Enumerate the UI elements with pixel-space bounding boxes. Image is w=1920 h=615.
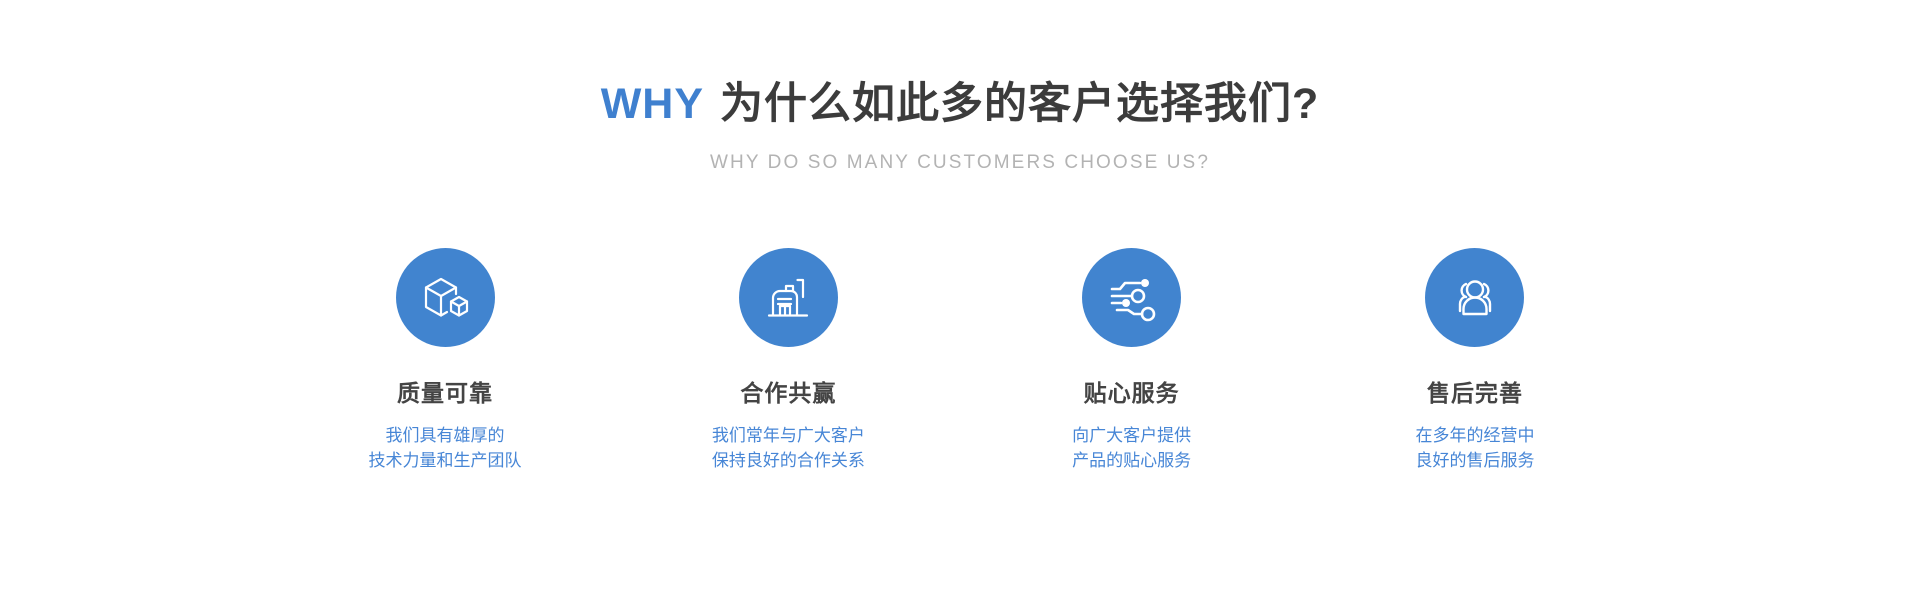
feature-desc-line-2: 产品的贴心服务 (1072, 448, 1191, 473)
people-group-icon (1447, 270, 1503, 326)
feature-item-cooperation[interactable]: 合作共赢 我们常年与广大客户 保持良好的合作关系 (673, 248, 903, 473)
icon-circle-after-sales (1425, 248, 1524, 347)
feature-item-quality[interactable]: 质量可靠 我们具有雄厚的 技术力量和生产团队 (330, 248, 560, 473)
feature-desc-line-1: 我们具有雄厚的 (369, 423, 522, 448)
feature-description: 在多年的经营中 良好的售后服务 (1415, 423, 1534, 473)
factory-icon (760, 270, 816, 326)
feature-item-service[interactable]: 贴心服务 向广大客户提供 产品的贴心服务 (1017, 248, 1247, 473)
feature-list: 质量可靠 我们具有雄厚的 技术力量和生产团队 (330, 248, 1590, 473)
heading-block: WHY为什么如此多的客户选择我们? WHY DO SO MANY CUSTOME… (0, 78, 1920, 174)
feature-item-after-sales[interactable]: 售后完善 在多年的经营中 良好的售后服务 (1360, 248, 1590, 473)
page-title: WHY为什么如此多的客户选择我们? (0, 78, 1920, 130)
icon-circle-quality (396, 248, 495, 347)
feature-description: 我们具有雄厚的 技术力量和生产团队 (369, 423, 522, 473)
feature-desc-line-2: 良好的售后服务 (1415, 448, 1534, 473)
feature-title: 质量可靠 (397, 374, 493, 408)
feature-desc-line-1: 向广大客户提供 (1072, 423, 1191, 448)
feature-description: 我们常年与广大客户 保持良好的合作关系 (712, 423, 865, 473)
icon-circle-service (1082, 248, 1181, 347)
why-choose-us-section: WHY为什么如此多的客户选择我们? WHY DO SO MANY CUSTOME… (0, 0, 1920, 615)
feature-desc-line-1: 在多年的经营中 (1415, 423, 1534, 448)
icon-circle-cooperation (739, 248, 838, 347)
feature-title: 贴心服务 (1084, 374, 1180, 408)
feature-desc-line-1: 我们常年与广大客户 (712, 423, 865, 448)
feature-desc-line-2: 技术力量和生产团队 (369, 448, 522, 473)
package-box-icon (417, 270, 473, 326)
feature-title: 售后完善 (1427, 374, 1523, 408)
page-subtitle: WHY DO SO MANY CUSTOMERS CHOOSE US? (0, 152, 1920, 174)
title-chinese: 为什么如此多的客户选择我们? (720, 80, 1319, 128)
feature-title: 合作共赢 (740, 374, 836, 408)
feature-description: 向广大客户提供 产品的贴心服务 (1072, 423, 1191, 473)
feature-desc-line-2: 保持良好的合作关系 (712, 448, 865, 473)
circuit-network-icon (1104, 270, 1160, 326)
title-prefix-why: WHY (601, 80, 704, 128)
